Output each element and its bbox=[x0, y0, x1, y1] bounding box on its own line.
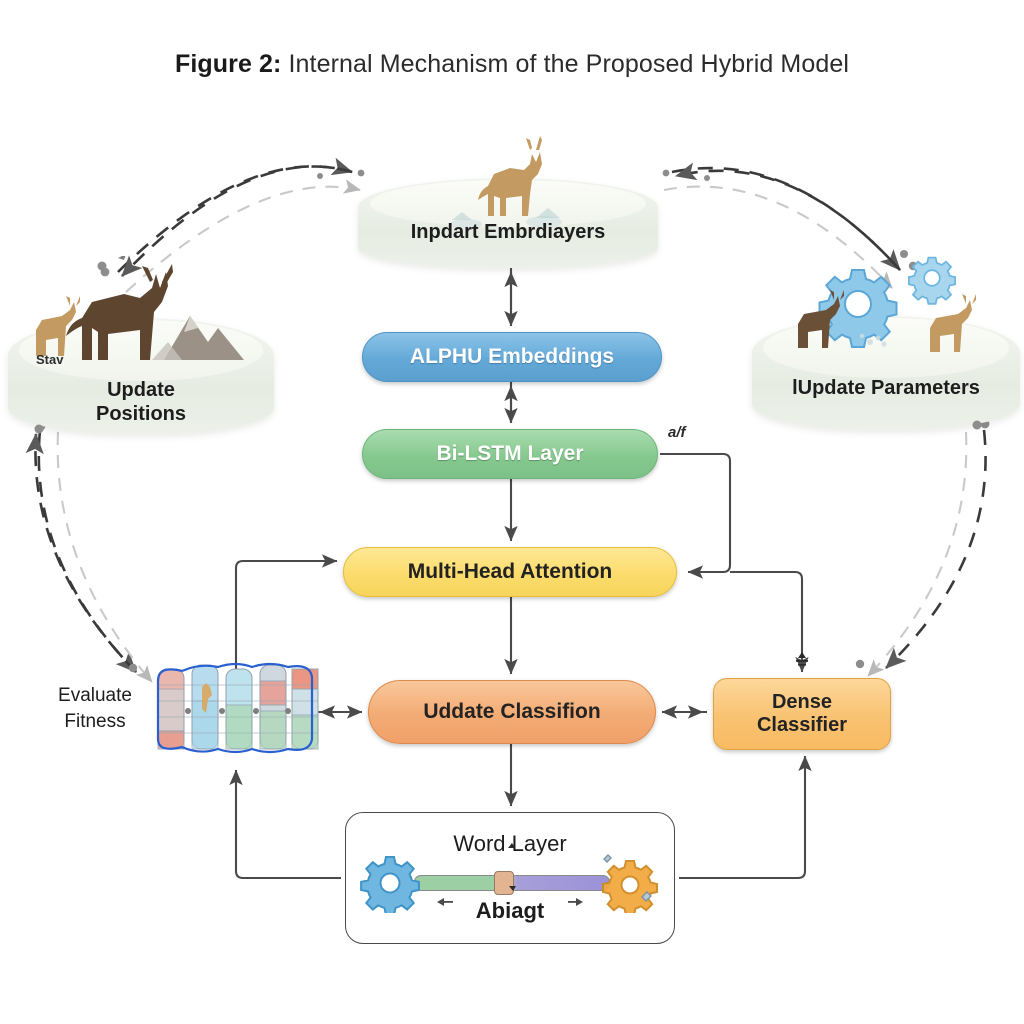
artifact-overlay-layer bbox=[0, 0, 1024, 1024]
figure-canvas: Figure 2: Internal Mechanism of the Prop… bbox=[0, 0, 1024, 1024]
wordlayer-knob-glyph-artifact bbox=[508, 843, 516, 891]
dense-arrow-glyph-artifact bbox=[796, 652, 808, 666]
wordlayer-left-arrow-glyph bbox=[437, 898, 583, 906]
